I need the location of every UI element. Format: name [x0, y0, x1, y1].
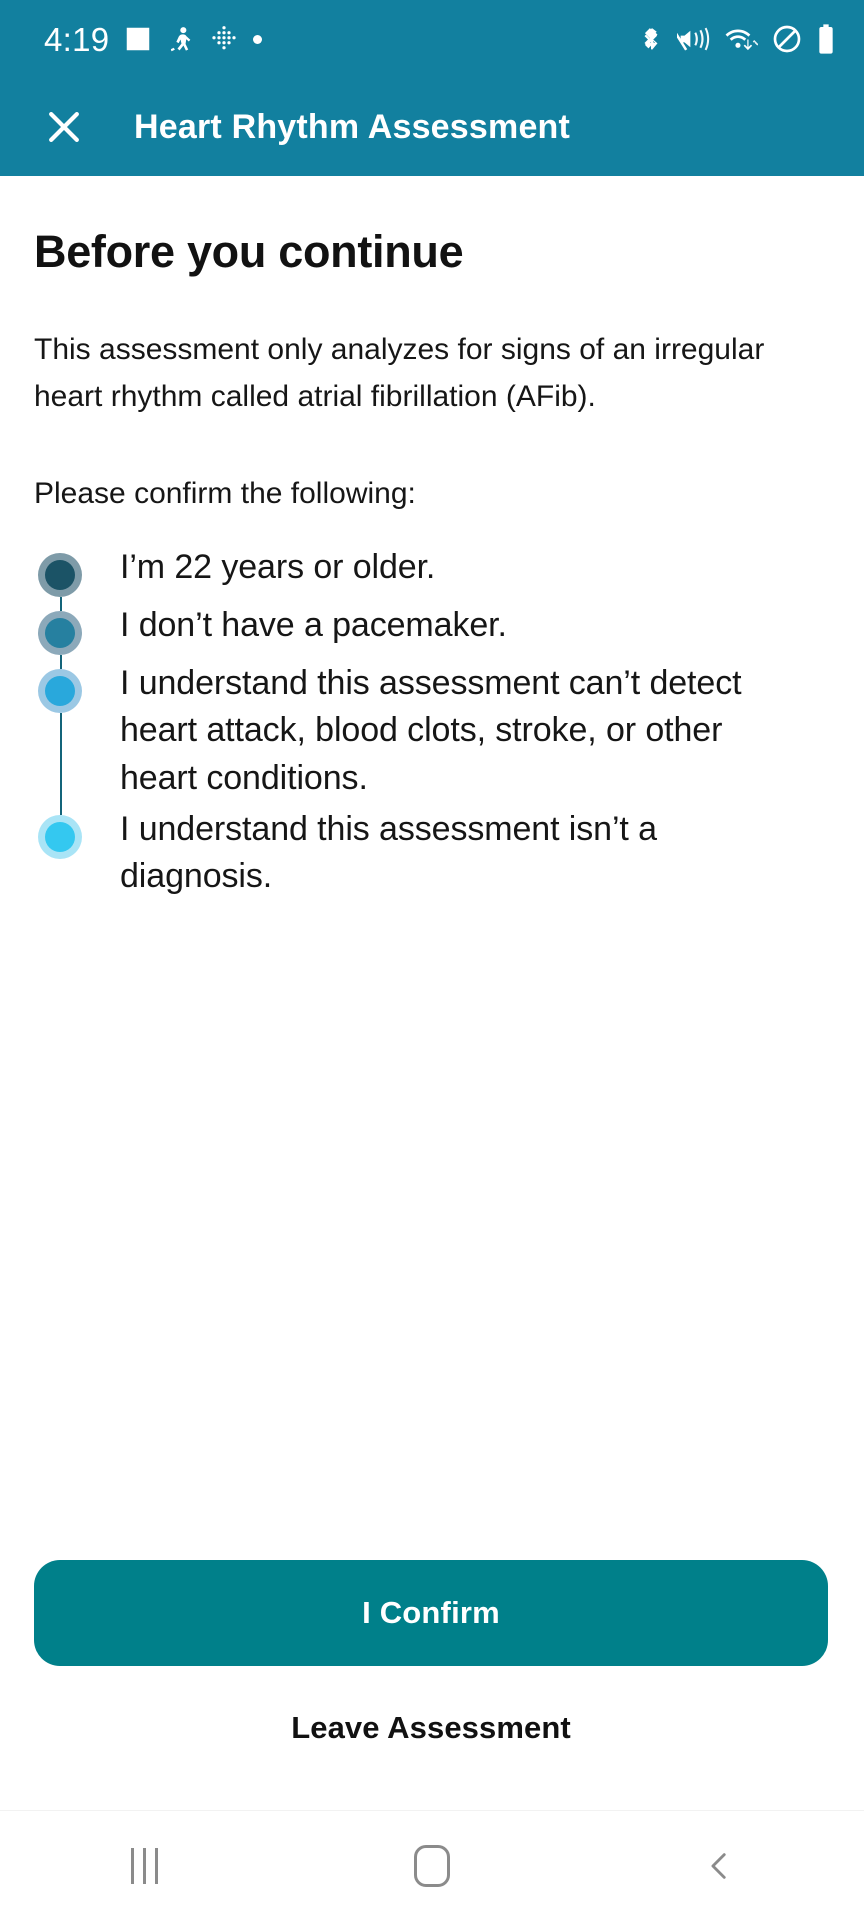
page-title: Before you continue	[34, 228, 828, 275]
checklist-item[interactable]: I understand this assessment isn’t a dia…	[34, 803, 828, 901]
person-activity-icon	[167, 24, 195, 54]
checklist-marker	[34, 803, 120, 859]
recents-icon	[131, 1848, 158, 1884]
app-bar: Heart Rhythm Assessment	[0, 78, 864, 176]
dotted-diamond-icon	[209, 24, 239, 54]
image-icon	[123, 24, 153, 54]
bullet-dot-icon	[45, 618, 75, 648]
checklist-item[interactable]: I’m 22 years or older.	[34, 541, 828, 599]
app-bar-title: Heart Rhythm Assessment	[134, 108, 570, 147]
wifi-data-transfer-icon	[724, 24, 758, 54]
status-bar-left: 4:19	[44, 23, 262, 56]
status-bar-clock: 4:19	[44, 23, 109, 56]
checklist-item-label: I’m 22 years or older.	[120, 541, 435, 592]
confirm-prompt: Please confirm the following:	[34, 473, 828, 515]
small-dot-icon	[253, 35, 262, 44]
status-bar: 4:19	[0, 0, 864, 78]
checklist-marker	[34, 657, 120, 713]
do-not-disturb-icon	[771, 23, 803, 55]
checklist-connector-line	[60, 713, 62, 815]
checklist-marker	[34, 541, 120, 597]
recents-button[interactable]	[69, 1811, 219, 1920]
action-area: I Confirm Leave Assessment	[34, 1560, 828, 1746]
checklist-item-label: I don’t have a pacemaker.	[120, 599, 507, 650]
volume-mute-vibrate-icon	[677, 24, 711, 54]
checklist-item[interactable]: I understand this assessment can’t detec…	[34, 657, 828, 803]
back-icon	[703, 1846, 737, 1886]
confirm-button[interactable]: I Confirm	[34, 1560, 828, 1666]
checklist-marker	[34, 599, 120, 655]
intro-paragraph: This assessment only analyzes for signs …	[34, 327, 774, 421]
battery-icon	[816, 23, 836, 55]
bullet-ring-icon	[38, 611, 82, 655]
bullet-dot-icon	[45, 676, 75, 706]
close-button[interactable]	[36, 99, 92, 155]
home-icon	[414, 1845, 450, 1887]
status-bar-right	[638, 23, 836, 55]
close-icon	[42, 105, 86, 149]
bullet-dot-icon	[45, 822, 75, 852]
checklist-item[interactable]: I don’t have a pacemaker.	[34, 599, 828, 657]
checklist-item-label: I understand this assessment can’t detec…	[120, 657, 760, 803]
system-navigation-bar	[0, 1810, 864, 1920]
main-content: Before you continue This assessment only…	[0, 176, 864, 1810]
bullet-ring-icon	[38, 669, 82, 713]
confirmation-checklist: I’m 22 years or older. I don’t have a pa…	[34, 541, 828, 901]
bluetooth-icon	[638, 23, 664, 55]
checklist-connector-line	[60, 597, 62, 611]
checklist-item-label: I understand this assessment isn’t a dia…	[120, 803, 760, 901]
leave-assessment-button[interactable]: Leave Assessment	[34, 1710, 828, 1746]
back-button[interactable]	[645, 1811, 795, 1920]
checklist-connector-line	[60, 655, 62, 669]
bullet-ring-icon	[38, 553, 82, 597]
home-button[interactable]	[357, 1811, 507, 1920]
bullet-dot-icon	[45, 560, 75, 590]
bullet-ring-icon	[38, 815, 82, 859]
